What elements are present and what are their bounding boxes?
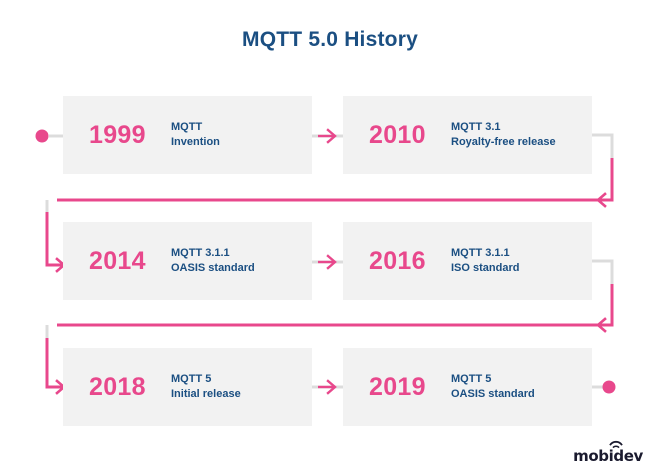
- milestone-line-2: Royalty-free release: [451, 135, 556, 150]
- milestone-line-1: MQTT 3.1.1: [451, 246, 519, 261]
- milestone-description: MQTT 5 OASIS standard: [451, 372, 535, 402]
- milestone-2010[interactable]: 2010 MQTT 3.1 Royalty-free release: [343, 96, 592, 174]
- page-title: MQTT 5.0 History: [0, 28, 660, 52]
- milestone-line-1: MQTT 3.1: [451, 120, 556, 135]
- wrap-r1-arrow-left-icon: [598, 194, 605, 206]
- end-dot: [603, 381, 616, 394]
- milestone-1999[interactable]: 1999 MQTT Invention: [63, 96, 312, 174]
- milestone-2019[interactable]: 2019 MQTT 5 OASIS standard: [343, 348, 592, 426]
- milestone-line-2: Initial release: [171, 387, 241, 402]
- milestone-description: MQTT Invention: [171, 120, 220, 150]
- milestone-description: MQTT 3.1.1 OASIS standard: [171, 246, 255, 276]
- milestone-line-2: Invention: [171, 135, 220, 150]
- wrap-r2-gray-segment: [592, 261, 612, 286]
- diagram-canvas: MQTT 5.0 History: [0, 0, 660, 474]
- milestone-2014[interactable]: 2014 MQTT 3.1.1 OASIS standard: [63, 222, 312, 300]
- wrap-r2-left-pink: [47, 338, 63, 387]
- milestone-line-2: ISO standard: [451, 261, 519, 276]
- milestone-description: MQTT 3.1 Royalty-free release: [451, 120, 556, 150]
- milestone-year: 2018: [89, 373, 163, 402]
- wrap-r1-left-pink: [47, 212, 63, 265]
- milestone-description: MQTT 5 Initial release: [171, 372, 241, 402]
- r2-arrow-right-icon: [318, 256, 335, 268]
- milestone-year: 2014: [89, 247, 163, 276]
- milestone-line-2: OASIS standard: [171, 261, 255, 276]
- milestone-description: MQTT 3.1.1 ISO standard: [451, 246, 519, 276]
- milestone-line-2: OASIS standard: [451, 387, 535, 402]
- logo-wordmark: mobidev: [573, 447, 643, 465]
- milestone-line-1: MQTT: [171, 120, 220, 135]
- wrap-r2-arrow-left-icon: [598, 319, 605, 331]
- milestone-line-1: MQTT 5: [451, 372, 535, 387]
- milestone-year: 2019: [369, 373, 443, 402]
- milestone-2016[interactable]: 2016 MQTT 3.1.1 ISO standard: [343, 222, 592, 300]
- milestone-year: 2016: [369, 247, 443, 276]
- milestone-year: 1999: [89, 121, 163, 150]
- r1-arrow-right-icon: [318, 130, 335, 142]
- milestone-year: 2010: [369, 121, 443, 150]
- milestone-line-1: MQTT 5: [171, 372, 241, 387]
- milestone-line-1: MQTT 3.1.1: [171, 246, 255, 261]
- r3-arrow-right-icon: [318, 381, 335, 393]
- milestone-2018[interactable]: 2018 MQTT 5 Initial release: [63, 348, 312, 426]
- start-dot: [36, 130, 49, 143]
- mobidev-logo: mobidev: [573, 440, 643, 466]
- wrap-r1-gray-segment: [592, 135, 612, 160]
